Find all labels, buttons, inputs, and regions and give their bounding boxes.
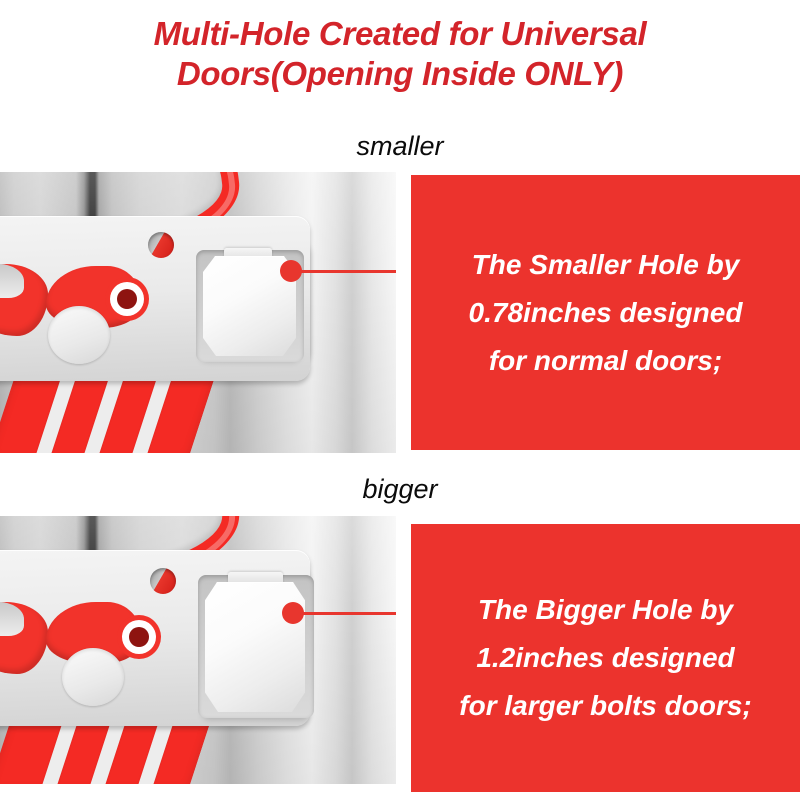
title-line-1: Multi-Hole Created for Universal <box>0 14 800 54</box>
callout-leader-line <box>292 612 396 615</box>
description-line-2: 0.78inches designed <box>469 289 743 337</box>
product-photo-bigger <box>0 516 396 784</box>
comparison-row-smaller: The Smaller Hole by 0.78inches designed … <box>0 172 800 453</box>
description-line-3: for larger bolts doors; <box>459 682 751 730</box>
lock-plate-round-hole <box>48 306 110 364</box>
page-title: Multi-Hole Created for Universal Doors(O… <box>0 14 800 94</box>
product-photo-smaller <box>0 172 396 453</box>
description-panel-bigger: The Bigger Hole by 1.2inches designed fo… <box>411 524 800 792</box>
title-line-2: Doors(Opening Inside ONLY) <box>0 54 800 94</box>
infographic-page: Multi-Hole Created for Universal Doors(O… <box>0 0 800 800</box>
description-line-1: The Smaller Hole by <box>469 241 743 289</box>
comparison-row-bigger: The Bigger Hole by 1.2inches designed fo… <box>0 516 800 784</box>
section-label-bigger: bigger <box>0 474 800 504</box>
lock-plate-pin-hole <box>150 568 176 594</box>
description-line-2: 1.2inches designed <box>459 634 751 682</box>
description-text-bigger: The Bigger Hole by 1.2inches designed fo… <box>433 586 777 730</box>
lock-cam-pivot-icon <box>110 282 144 316</box>
description-line-1: The Bigger Hole by <box>459 586 751 634</box>
callout-dot-icon <box>280 260 302 282</box>
description-line-3: for normal doors; <box>469 337 743 385</box>
lock-cam-pivot-icon <box>122 620 156 654</box>
description-text-smaller: The Smaller Hole by 0.78inches designed … <box>443 241 769 385</box>
section-label-smaller: smaller <box>0 131 800 161</box>
callout-leader-line <box>290 270 396 273</box>
lock-plate-round-hole <box>62 648 124 706</box>
description-panel-smaller: The Smaller Hole by 0.78inches designed … <box>411 175 800 450</box>
callout-dot-icon <box>282 602 304 624</box>
lock-plate-pin-hole <box>148 232 174 258</box>
